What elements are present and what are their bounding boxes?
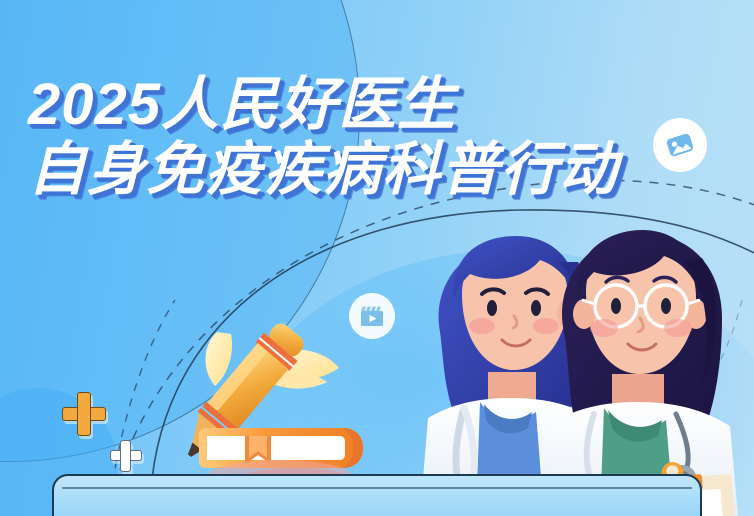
desk-bar <box>52 474 702 516</box>
image-icon-badge <box>653 118 707 172</box>
plus-icon-white <box>110 440 142 472</box>
campaign-banner: 2025人民好医生 自身免疫疾病科普行动 <box>0 0 754 516</box>
doctors-illustration <box>418 222 754 516</box>
film-clapper-play-icon <box>358 302 386 330</box>
banner-headline: 2025人民好医生 自身免疫疾病科普行动 <box>28 74 618 201</box>
headline-line-1: 2025人民好医生 <box>28 74 618 135</box>
plus-icon-orange <box>62 392 106 436</box>
stationery-illustration <box>175 310 390 495</box>
headline-line-2: 自身免疫疾病科普行动 <box>28 139 618 200</box>
image-icon <box>665 130 695 160</box>
video-icon-badge <box>349 293 395 339</box>
